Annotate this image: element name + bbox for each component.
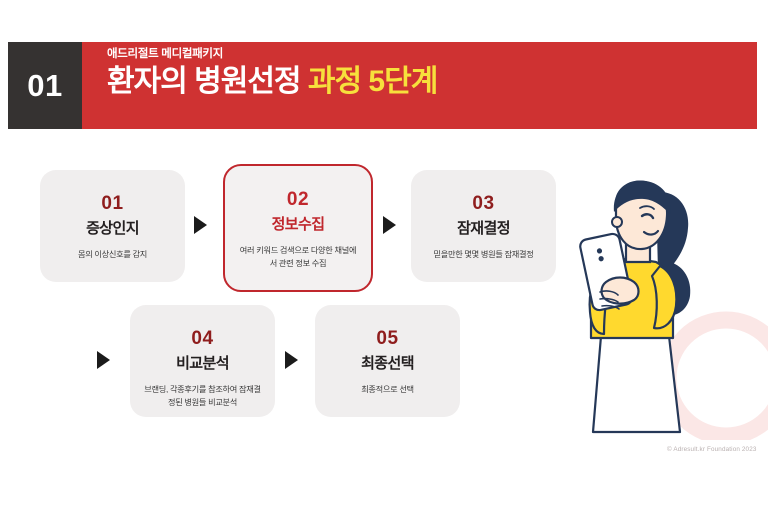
step-title-01: 증상인지 <box>86 220 139 238</box>
step-number-01: 01 <box>101 194 123 213</box>
step-number-02: 02 <box>287 190 309 209</box>
step-title-03: 잠재결정 <box>457 220 510 238</box>
step-title-05: 최종선택 <box>361 355 414 373</box>
step-description-03: 믿을만한 몇몇 병원들 잠재결정 <box>428 249 540 262</box>
step-description-02: 여러 키워드 검색으로 다양한 채널에서 관련 정보 수집 <box>233 245 363 270</box>
header-section-number: 01 <box>27 70 62 101</box>
page-title: 환자의 병원선정 과정 5단계 <box>107 64 667 101</box>
step-number-05: 05 <box>376 329 398 348</box>
step-description-01: 몸의 이상신호를 감지 <box>72 249 153 262</box>
header-number-block: 01 <box>8 42 82 129</box>
step-card-05[interactable]: 05 최종선택 최종적으로 선택 <box>315 305 460 417</box>
arrow-right-icon-step3-to-step4 <box>97 351 110 369</box>
page-title-primary: 환자의 병원선정 <box>107 65 308 98</box>
step-title-04: 비교분석 <box>176 355 229 373</box>
arrow-right-icon-step4-to-step5 <box>285 351 298 369</box>
header-text-group: 애드리절트 메디컬패키지 환자의 병원선정 과정 5단계 <box>107 48 667 100</box>
arrow-right-icon-step2-to-step3 <box>383 216 396 234</box>
header-subtitle: 애드리절트 메디컬패키지 <box>107 48 667 62</box>
step-card-01[interactable]: 01 증상인지 몸의 이상신호를 감지 <box>40 170 185 282</box>
step-description-04: 브랜딩, 각종후기를 참조하여 잠재결정된 병원들 비교분석 <box>138 384 267 409</box>
step-card-04[interactable]: 04 비교분석 브랜딩, 각종후기를 참조하여 잠재결정된 병원들 비교분석 <box>130 305 275 417</box>
process-flow-diagram: 01 증상인지 몸의 이상신호를 감지 02 정보수집 여러 키워드 검색으로 … <box>0 150 580 440</box>
decorative-circle-arc <box>668 320 768 436</box>
step-card-02[interactable]: 02 정보수집 여러 키워드 검색으로 다양한 채널에서 관련 정보 수집 <box>223 164 373 292</box>
step-description-05: 최종적으로 선택 <box>355 384 420 397</box>
page-title-accent: 과정 5단계 <box>308 65 437 98</box>
step-number-03: 03 <box>472 194 494 213</box>
step-title-02: 정보수집 <box>272 216 325 234</box>
woman-holding-smartphone-illustration <box>560 170 768 440</box>
slide-canvas: 01 애드리절트 메디컬패키지 환자의 병원선정 과정 5단계 01 증상인지 … <box>0 0 768 512</box>
arrow-right-icon-step1-to-step2 <box>194 216 207 234</box>
copyright-footer: © Adresult.kr Foundation 2023 <box>667 446 757 453</box>
step-card-03[interactable]: 03 잠재결정 믿을만한 몇몇 병원들 잠재결정 <box>411 170 556 282</box>
step-number-04: 04 <box>191 329 213 348</box>
